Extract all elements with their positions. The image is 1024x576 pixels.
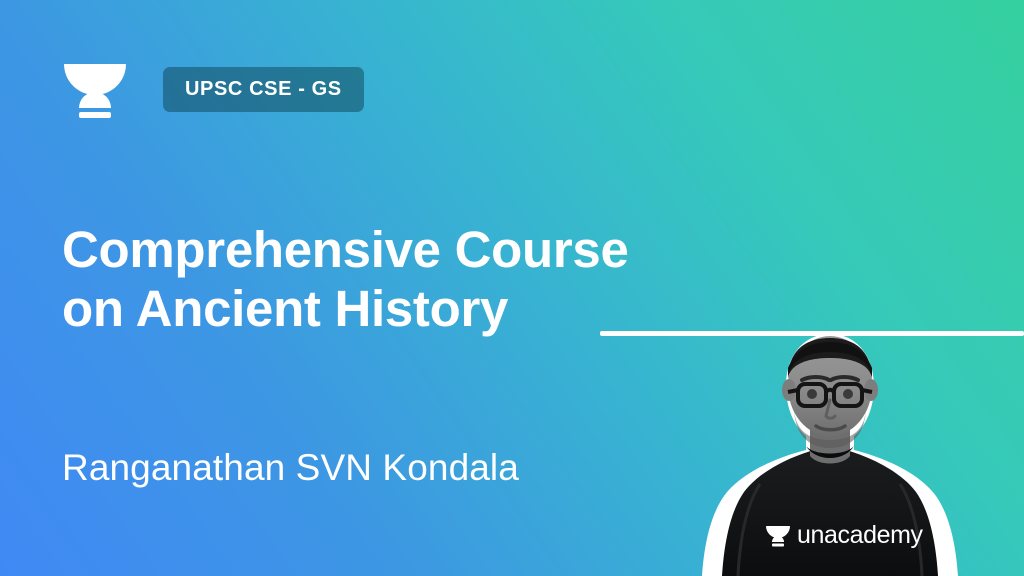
course-title-line-2: on Ancient History [62, 279, 662, 338]
course-title: Comprehensive Course on Ancient History [62, 220, 662, 338]
shirt-wordmark-text: unacademy [797, 521, 923, 550]
category-badge[interactable]: UPSC CSE - GS [163, 67, 364, 112]
unacademy-logo-icon [62, 60, 128, 122]
course-title-line-1: Comprehensive Course [62, 220, 662, 279]
shirt-unacademy-logo-icon [765, 524, 791, 548]
educator-name: Ranganathan SVN Kondala [62, 447, 519, 489]
category-badge-label: UPSC CSE - GS [185, 78, 342, 101]
course-thumbnail-card: UPSC CSE - GS Comprehensive Course on An… [0, 0, 1024, 576]
